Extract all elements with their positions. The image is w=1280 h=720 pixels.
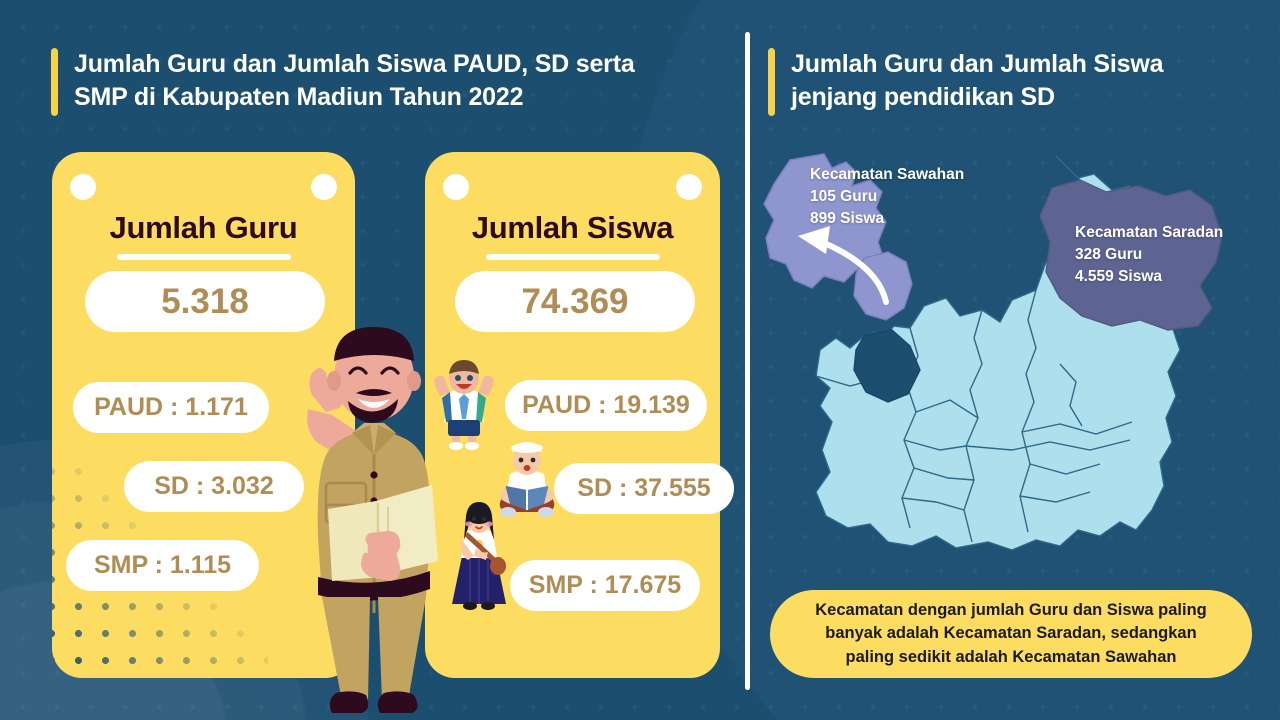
card-guru-rule	[117, 254, 291, 260]
title-accent-bar	[768, 48, 775, 116]
card-hole-left-icon	[443, 174, 469, 200]
map-label-sawahan: Kecamatan Sawahan 105 Guru 899 Siswa	[810, 164, 964, 230]
card-guru-title: Jumlah Guru	[52, 210, 355, 246]
student-boy-illustration	[428, 358, 500, 450]
right-panel-title: Jumlah Guru dan Jumlah Siswa jenjang pen…	[768, 48, 1163, 116]
card-siswa-item-paud: PAUD : 19.139	[505, 380, 707, 431]
card-siswa-item-sd: SD : 37.555	[554, 463, 734, 514]
title-accent-bar	[51, 48, 58, 116]
left-panel-title: Jumlah Guru dan Jumlah Siswa PAUD, SD se…	[51, 48, 635, 116]
map-summary-caption: Kecamatan dengan jumlah Guru dan Siswa p…	[770, 590, 1252, 678]
panel-divider	[745, 32, 750, 690]
card-guru-item-paud: PAUD : 1.171	[73, 382, 269, 433]
left-panel-title-text: Jumlah Guru dan Jumlah Siswa PAUD, SD se…	[74, 48, 635, 115]
card-guru-item-smp: SMP : 1.115	[66, 540, 259, 591]
map-kabupaten-madiun[interactable]: Kecamatan Sawahan 105 Guru 899 Siswa Kec…	[760, 150, 1270, 570]
card-siswa-item-smp: SMP : 17.675	[510, 560, 700, 611]
right-panel-title-text: Jumlah Guru dan Jumlah Siswa jenjang pen…	[791, 48, 1163, 115]
card-hole-right-icon	[676, 174, 702, 200]
card-siswa-total-value: 74.369	[455, 271, 695, 332]
map-label-saradan: Kecamatan Saradan 328 Guru 4.559 Siswa	[1075, 222, 1223, 288]
card-siswa-rule	[486, 254, 660, 260]
card-hole-right-icon	[311, 174, 337, 200]
card-hole-left-icon	[70, 174, 96, 200]
student-girl-illustration	[448, 500, 510, 612]
card-siswa-title: Jumlah Siswa	[425, 210, 720, 246]
